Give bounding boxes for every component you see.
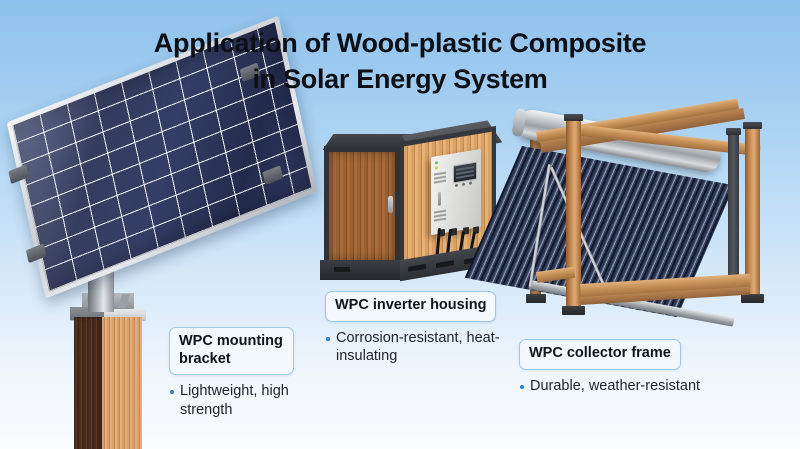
inverter-button[interactable] xyxy=(455,184,458,188)
post-cap xyxy=(726,128,741,135)
bullet-collector-frame: Durable, weather-resistant xyxy=(519,377,749,396)
inverter-unit xyxy=(431,149,481,235)
cabinet-front-wood-slats xyxy=(329,152,395,260)
callout-wpc-inverter-housing: WPC inverter housing Corrosion-resistant… xyxy=(325,291,500,366)
page-title: Application of Wood-plastic Composite in… xyxy=(0,26,800,97)
frame-foot xyxy=(526,294,546,303)
inverter-status-led xyxy=(435,161,438,165)
post-cap xyxy=(743,122,762,129)
title-line-2: in Solar Energy System xyxy=(0,62,800,98)
bullet-mounting-bracket: Lightweight, high strength xyxy=(169,382,329,419)
post-cap xyxy=(564,114,583,121)
label-chip-inverter-housing[interactable]: WPC inverter housing xyxy=(325,291,496,322)
bullet-inverter-housing: Corrosion-resistant, heat-insulating xyxy=(325,329,500,366)
inverter-button[interactable] xyxy=(462,182,465,186)
inverter-status-led xyxy=(435,166,438,170)
label-chip-collector-frame[interactable]: WPC collector frame xyxy=(519,339,681,370)
frame-foot xyxy=(741,294,764,303)
label-chip-mounting-bracket[interactable]: WPC mounting bracket xyxy=(169,327,294,375)
callout-wpc-collector-frame: WPC collector frame Durable, weather-res… xyxy=(519,339,749,395)
inverter-latch[interactable] xyxy=(438,192,441,207)
title-line-1: Application of Wood-plastic Composite xyxy=(0,26,800,62)
wpc-column xyxy=(74,305,142,449)
cabinet-door-handle xyxy=(388,196,393,213)
column-face-dark xyxy=(74,317,102,449)
poster-canvas: Application of Wood-plastic Composite in… xyxy=(0,0,800,449)
frame-post-front-left xyxy=(566,118,581,308)
frame-post-right xyxy=(745,126,760,296)
callout-wpc-mounting-bracket: WPC mounting bracket Lightweight, high s… xyxy=(169,327,329,419)
frame-foot xyxy=(562,306,585,315)
column-face-light xyxy=(102,317,142,449)
cabinet-plinth-front xyxy=(320,260,400,280)
solar-collector-illustration xyxy=(500,112,800,322)
inverter-display xyxy=(453,161,477,183)
inverter-button[interactable] xyxy=(469,181,472,185)
tank-end-cap xyxy=(511,108,527,138)
frame-post-right-rear xyxy=(728,132,739,294)
